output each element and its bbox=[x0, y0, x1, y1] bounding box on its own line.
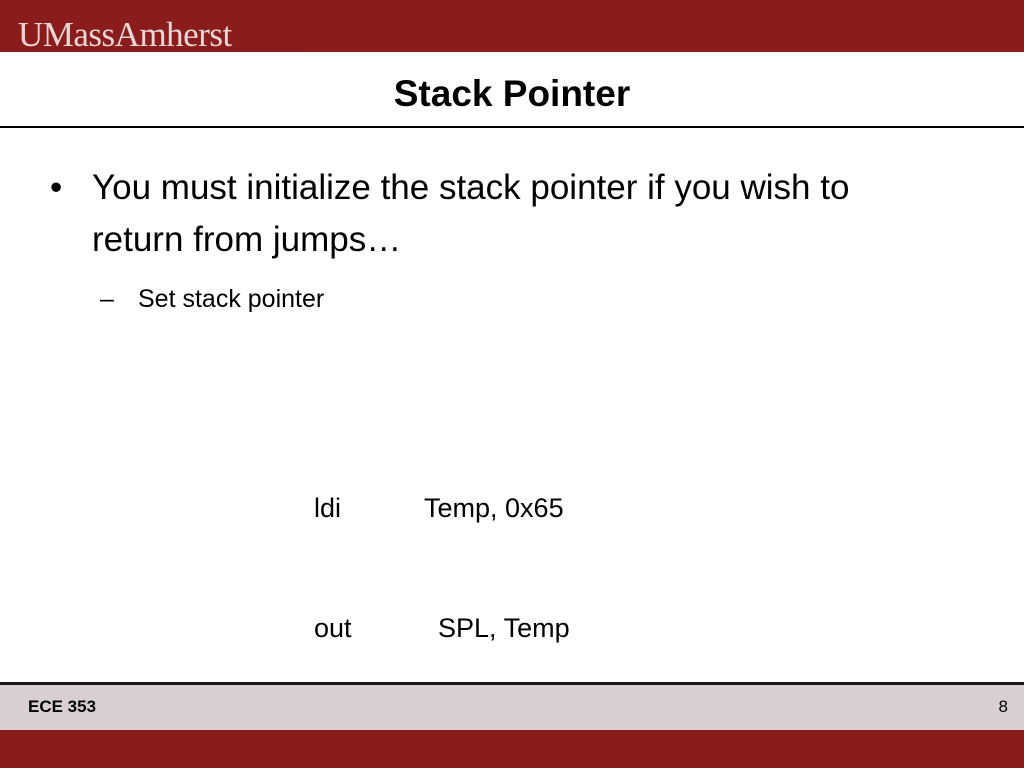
code-line: ldiTemp, 0x65 bbox=[254, 448, 570, 488]
dash-marker-icon: – bbox=[100, 282, 134, 316]
code-operands: SPL, Temp bbox=[424, 608, 570, 648]
title-divider bbox=[0, 126, 1024, 128]
footer-page-number: 8 bbox=[0, 697, 1008, 717]
bullet-item-primary: • You must initialize the stack pointer … bbox=[50, 162, 950, 266]
bullet-item-secondary: – Set stack pointer bbox=[100, 282, 900, 316]
code-operands: Temp, 0x65 bbox=[424, 488, 564, 528]
code-line: outSPL, Temp bbox=[254, 568, 570, 608]
code-mnemonic: out bbox=[314, 608, 424, 648]
slide: UMassAmherst Stack Pointer • You must in… bbox=[0, 0, 1024, 768]
logo-text: UMassAmherst bbox=[18, 15, 232, 54]
slide-title: Stack Pointer bbox=[0, 72, 1024, 116]
bullet-marker-icon: • bbox=[50, 162, 90, 214]
footer-bottom-bar bbox=[0, 730, 1024, 768]
code-mnemonic: ldi bbox=[314, 488, 424, 528]
bullet-text-primary: You must initialize the stack pointer if… bbox=[92, 162, 942, 266]
bullet-text-secondary: Set stack pointer bbox=[138, 282, 900, 316]
slide-body: • You must initialize the stack pointer … bbox=[0, 140, 1024, 670]
umass-amherst-logo: UMassAmherst bbox=[18, 16, 232, 54]
code-block: ldiTemp, 0x65 outSPL, Temp bbox=[254, 368, 570, 688]
